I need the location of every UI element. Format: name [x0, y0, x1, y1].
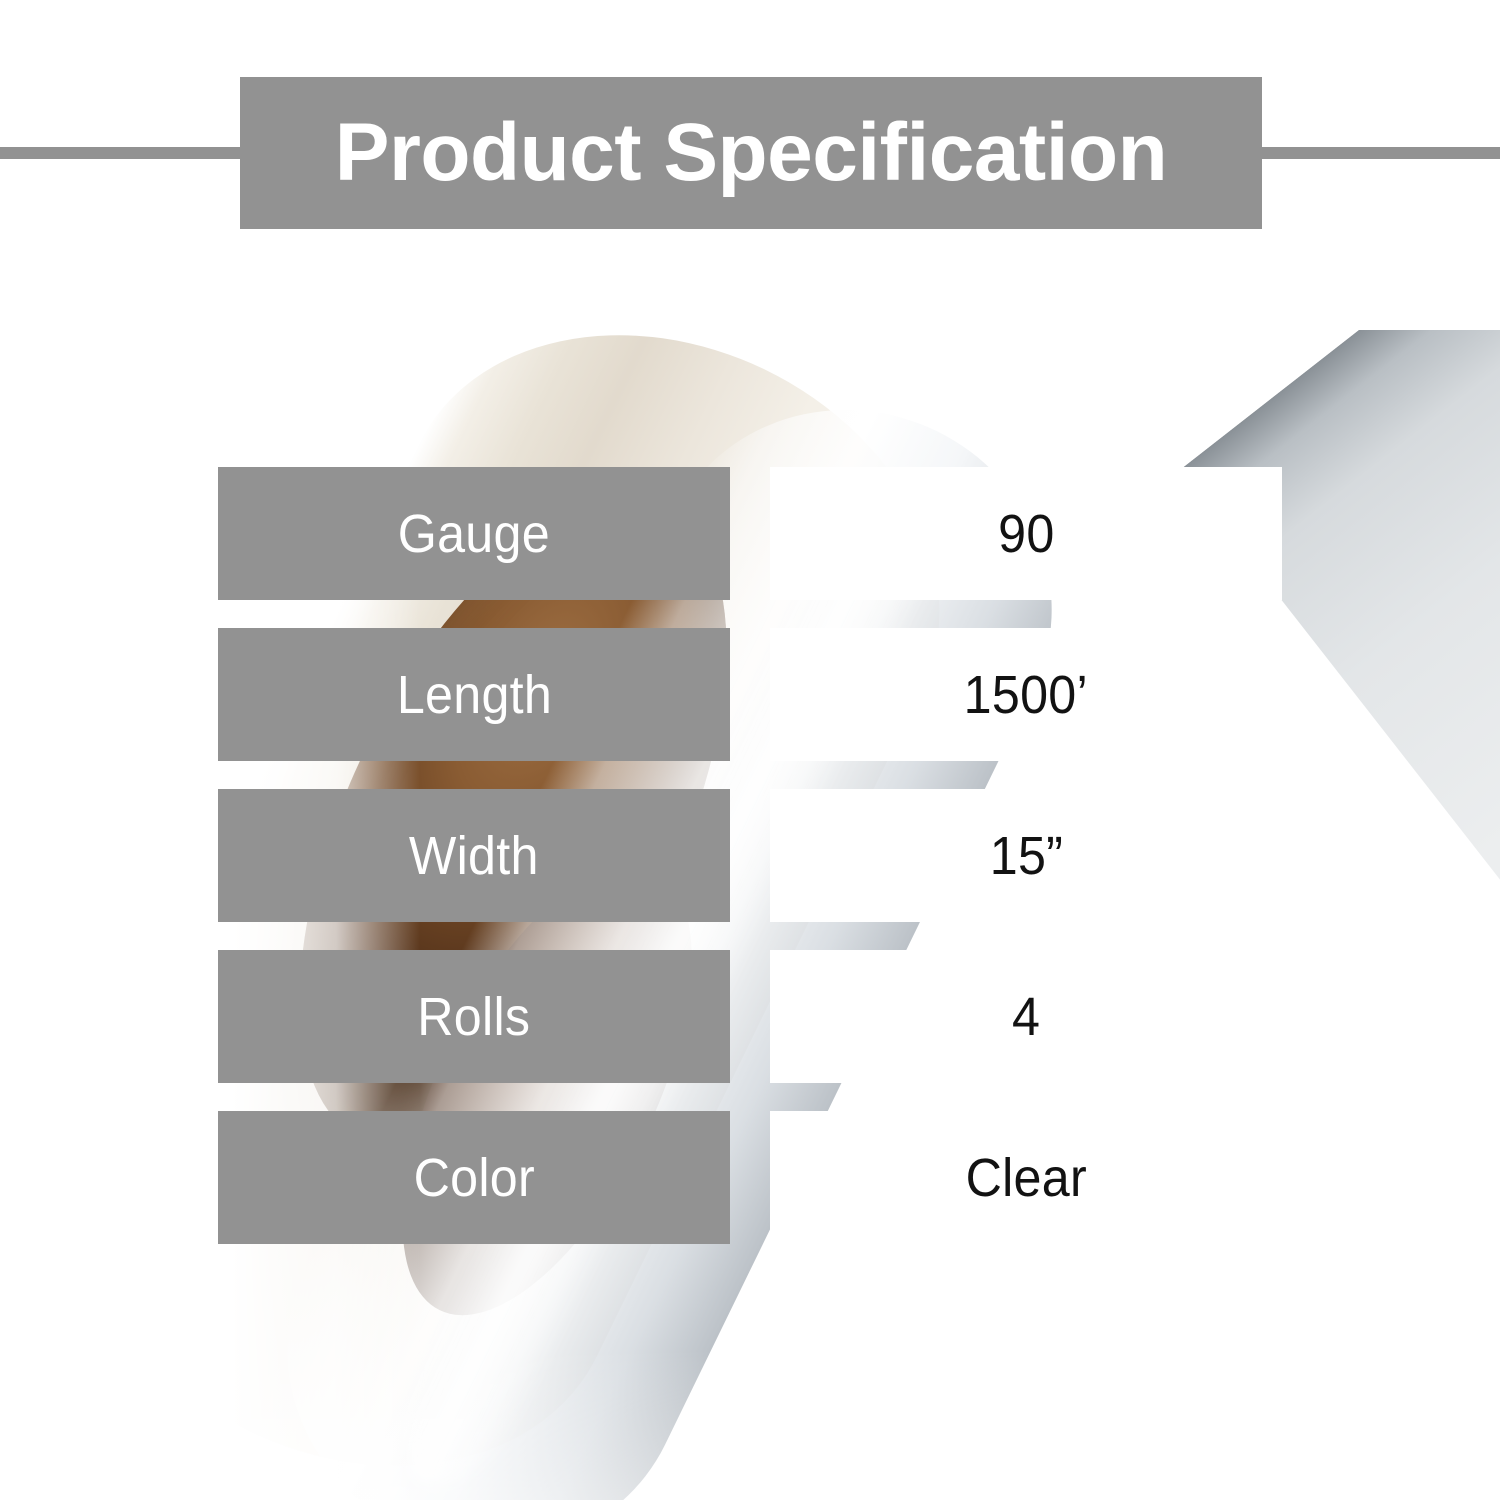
product-spec-graphic: Product Specification Gauge 90 Length 15…	[0, 0, 1500, 1500]
spec-value-cell: Clear	[770, 1111, 1282, 1244]
spec-label-cell: Width	[218, 789, 730, 922]
spec-value-text: 1500’	[964, 668, 1088, 722]
spec-label-text: Color	[413, 1151, 534, 1205]
spec-value-text: 15”	[989, 829, 1062, 883]
spec-label-text: Gauge	[398, 507, 550, 561]
table-row: Gauge 90	[0, 467, 1500, 600]
spec-label-cell: Rolls	[218, 950, 730, 1083]
spec-label-cell: Color	[218, 1111, 730, 1244]
table-row: Width 15”	[0, 789, 1500, 922]
spec-label-text: Width	[409, 829, 539, 883]
table-row: Length 1500’	[0, 628, 1500, 761]
spec-value-text: 90	[998, 507, 1054, 561]
spec-label-text: Rolls	[417, 990, 530, 1044]
spec-value-text: 4	[1012, 990, 1040, 1044]
spec-label-cell: Gauge	[218, 467, 730, 600]
table-row: Rolls 4	[0, 950, 1500, 1083]
spec-value-cell: 90	[770, 467, 1282, 600]
specification-table: Gauge 90 Length 1500’ Width 15” Rol	[0, 0, 1500, 1500]
spec-value-cell: 4	[770, 950, 1282, 1083]
spec-value-text: Clear	[965, 1151, 1086, 1205]
table-row: Color Clear	[0, 1111, 1500, 1244]
spec-label-cell: Length	[218, 628, 730, 761]
spec-value-cell: 15”	[770, 789, 1282, 922]
spec-label-text: Length	[396, 668, 551, 722]
spec-value-cell: 1500’	[770, 628, 1282, 761]
